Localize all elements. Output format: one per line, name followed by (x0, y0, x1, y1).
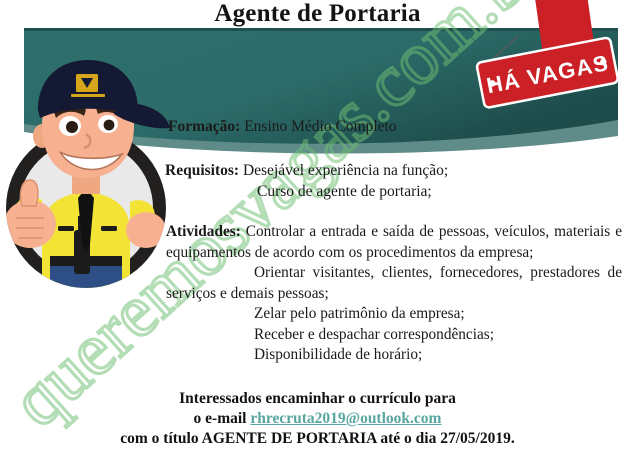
atividades-item-1: Zelar pelo patrimônio da empresa; (166, 304, 622, 325)
guard-thumb (20, 180, 38, 206)
requisitos-first-line: Requisitos: Desejável experiência na fun… (165, 160, 625, 181)
footer-contact: Interessados encaminhar o currículo para… (0, 389, 635, 449)
section-formacao: Formação: Ensino Médio Completo (168, 117, 623, 137)
requisitos-item-0: Desejável experiência na função; (243, 162, 448, 179)
guard-right-hand (126, 212, 166, 248)
atividades-item-0: Orientar visitantes, clientes, fornecedo… (166, 263, 622, 304)
footer-email-prefix: o e-mail (194, 410, 251, 427)
footer-job-title: AGENTE DE PORTARIA (202, 430, 377, 447)
requisitos-item-1: Curso de agente de portaria; (165, 181, 625, 202)
formacao-label: Formação: (168, 118, 240, 135)
section-requisitos: Requisitos: Desejável experiência na fun… (165, 160, 625, 202)
footer-period: . (511, 430, 515, 447)
job-poster: Agente de Portaria (0, 0, 635, 456)
footer-deadline-prefix: até o dia (377, 430, 441, 447)
email-link[interactable]: rhrecruta2019@outlook.com (250, 410, 441, 427)
atividades-item-2: Receber e despachar correspondências; (166, 325, 622, 346)
footer-line-2: o e-mail rhrecruta2019@outlook.com (0, 409, 635, 429)
guard-pupil-right (104, 120, 115, 131)
page-title: Agente de Portaria (0, 0, 635, 28)
security-guard-illustration (0, 30, 174, 292)
guard-pupil-left (66, 121, 78, 133)
atividades-label: Atividades: (166, 223, 241, 240)
footer-deadline: 27/05/2019 (440, 430, 511, 447)
requisitos-label: Requisitos: (165, 162, 239, 179)
guard-cap-emblem-text (71, 94, 105, 97)
atividades-item-3: Disponibilidade de horário; (166, 345, 622, 366)
formacao-value: Ensino Médio Completo (244, 118, 396, 135)
footer-line-3: com o título AGENTE DE PORTARIA até o di… (0, 429, 635, 449)
guard-pocket-left (58, 226, 74, 231)
guard-pocket-right (101, 226, 117, 231)
footer-line-1: Interessados encaminhar o currículo para (0, 389, 635, 409)
guard-graphic (0, 30, 174, 292)
footer-title-prefix: com o título (120, 430, 201, 447)
section-atividades: Atividades: Controlar a entrada e saída … (166, 222, 622, 366)
atividades-intro-paragraph: Atividades: Controlar a entrada e saída … (166, 222, 622, 263)
guard-fist (4, 200, 56, 248)
